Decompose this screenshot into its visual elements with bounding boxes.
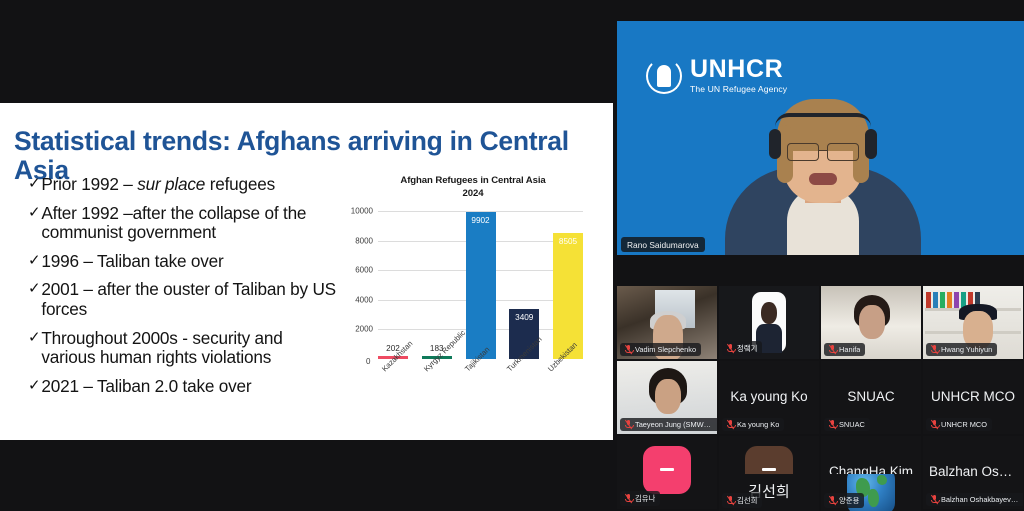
checkmark-icon: ✓	[28, 329, 40, 347]
y-axis-tick-label: 4000	[355, 295, 373, 304]
slide-bullet: ✓1996 – Taliban take over	[28, 252, 338, 272]
participant-name-tag: 정랰기	[722, 341, 762, 356]
participant-tile[interactable]: 정랰기	[719, 286, 819, 359]
participant-avatar	[643, 446, 691, 494]
main-speaker-name-label: Rano Saidumarova	[621, 237, 705, 252]
checkmark-icon: ✓	[28, 252, 40, 270]
participant-name-label: Taeyeon Jung (SMWU S...	[635, 420, 715, 429]
participant-name-tag: Hanifa	[824, 343, 865, 356]
participant-name-tag: Taeyeon Jung (SMWU S...	[620, 418, 717, 431]
participant-name-tag: UNHCR MCO	[926, 418, 992, 431]
participant-tile[interactable]: Taeyeon Jung (SMWU S...	[617, 361, 717, 434]
participant-name-label: 김유나	[635, 493, 655, 504]
participant-name-label: Hwang Yuhiyun	[941, 345, 992, 354]
participant-tile[interactable]: UNHCR MCOUNHCR MCO	[923, 361, 1023, 434]
participant-name-tag: Hwang Yuhiyun	[926, 343, 997, 356]
bullet-text-pre: 1996 – Taliban take over	[41, 251, 223, 271]
x-axis-labels: KazakhstanKyrgyz RepublicTajikistanTurkm…	[378, 365, 583, 425]
chart-bar-slot: 183	[422, 211, 452, 359]
microphone-muted-icon	[931, 495, 938, 504]
checkmark-icon: ✓	[28, 204, 40, 222]
participant-tile[interactable]: 김선희김선희	[719, 474, 819, 511]
bullet-text-pre: Prior 1992 –	[41, 174, 137, 194]
participant-display-name: UNHCR MCO	[923, 389, 1023, 404]
participant-name-tag: SNUAC	[824, 418, 870, 431]
participant-tile[interactable]: Balzhan Oshak...Balzhan Oshakbayeva (...	[923, 436, 1023, 509]
participant-tile[interactable]: 양준용	[821, 474, 921, 511]
participant-name-label: SNUAC	[839, 420, 865, 429]
microphone-muted-icon	[829, 345, 836, 354]
slide-bullet-text: After 1992 –after the collapse of the co…	[41, 204, 338, 243]
chart-bar-value-label: 8505	[559, 237, 577, 246]
participant-name-tag: Ka young Ko	[722, 418, 784, 431]
participant-name-tag: 김유나	[620, 491, 660, 506]
participant-name-label: Hanifa	[839, 345, 860, 354]
bullet-text-pre: 2001 – after the ouster of Taliban by US…	[41, 279, 336, 319]
participant-name-label: UNHCR MCO	[941, 420, 987, 429]
microphone-muted-icon	[727, 420, 734, 429]
microphone-muted-icon	[829, 420, 836, 429]
participant-display-name: Ka young Ko	[719, 389, 819, 404]
bullet-text-pre: After 1992 –after the collapse of the co…	[41, 203, 306, 243]
unhcr-virtual-background-logo: UNHCR The UN Refugee Agency	[646, 57, 787, 94]
chart-bar-slot: 9902	[466, 211, 496, 359]
participant-tile[interactable]: Hanifa	[821, 286, 921, 359]
slide-bullet-text: 2001 – after the ouster of Taliban by US…	[41, 280, 338, 319]
unhcr-wordmark: UNHCR	[690, 57, 787, 82]
slide-bullet-list: ✓Prior 1992 – sur place refugees✓After 1…	[28, 175, 338, 405]
chart-bar-value-label: 3409	[515, 313, 533, 322]
slide-bullet: ✓2001 – after the ouster of Taliban by U…	[28, 280, 338, 319]
participant-display-name: Balzhan Oshak...	[923, 464, 1023, 479]
participant-tile[interactable]: Ka young KoKa young Ko	[719, 361, 819, 434]
slide-bullet: ✓2021 – Taliban 2.0 take over	[28, 377, 338, 397]
unhcr-tagline: The UN Refugee Agency	[690, 84, 787, 94]
slide-bullet-text: 2021 – Taliban 2.0 take over	[41, 377, 338, 397]
microphone-muted-icon	[727, 344, 734, 353]
participant-name-label: 양준용	[839, 495, 859, 506]
y-axis-zero-label: 0	[366, 357, 370, 366]
microphone-muted-icon	[625, 420, 632, 429]
chart-plot-area: 200040006000800010000202183990234098505	[378, 211, 583, 359]
chart-bar-slot: 202	[378, 211, 408, 359]
unhcr-emblem-icon	[646, 58, 682, 94]
microphone-muted-icon	[829, 496, 836, 505]
microphone-muted-icon	[931, 420, 938, 429]
chart-bar-value-label: 9902	[471, 216, 489, 225]
participant-name-tag: 양준용	[824, 493, 864, 508]
chart-title: Afghan Refugees in Central Asia 2024	[340, 175, 606, 201]
participant-tile[interactable]: Hwang Yuhiyun	[923, 286, 1023, 359]
slide-bullet: ✓Prior 1992 – sur place refugees	[28, 175, 338, 195]
slide-bullet: ✓Throughout 2000s - security and various…	[28, 329, 338, 368]
participant-name-tag: 김선희	[722, 493, 762, 508]
slide-bullet-text: Throughout 2000s - security and various …	[41, 329, 338, 368]
participant-tile[interactable]: Vadim Slepchenko	[617, 286, 717, 359]
participant-name-label: Ka young Ko	[737, 420, 779, 429]
microphone-muted-icon	[931, 345, 938, 354]
checkmark-icon: ✓	[28, 377, 40, 395]
slide-bullet-text: Prior 1992 – sur place refugees	[41, 175, 338, 195]
y-axis-tick-label: 8000	[355, 236, 373, 245]
checkmark-icon: ✓	[28, 280, 40, 298]
bullet-text-pre: 2021 – Taliban 2.0 take over	[41, 376, 251, 396]
chart-title-main: Afghan Refugees in Central Asia	[400, 175, 545, 186]
chart-bar: 9902	[466, 212, 496, 359]
bullet-text-pre: Throughout 2000s - security and various …	[41, 328, 282, 368]
chart-bar: 8505	[553, 233, 583, 359]
y-axis-tick-label: 2000	[355, 325, 373, 334]
checkmark-icon: ✓	[28, 175, 40, 193]
chart-afghan-refugees: Afghan Refugees in Central Asia 2024 200…	[340, 175, 606, 430]
participant-name-label: 김선희	[737, 495, 757, 506]
participant-name-label: Vadim Slepchenko	[635, 345, 696, 354]
zoom-meeting-window: Statistical trends: Afghans arriving in …	[0, 0, 1024, 511]
slide-bullet-text: 1996 – Taliban take over	[41, 252, 338, 272]
chart-bar-slot: 8505	[553, 211, 583, 359]
microphone-muted-icon	[625, 494, 632, 503]
speaker-webcam-image	[725, 99, 921, 255]
main-speaker-video-tile[interactable]: UNHCR The UN Refugee Agency Rano Saiduma…	[617, 21, 1024, 255]
microphone-muted-icon	[727, 496, 734, 505]
microphone-muted-icon	[625, 345, 632, 354]
bullet-text-emphasis: sur place	[137, 174, 205, 194]
participant-tile[interactable]: 김유나	[617, 436, 717, 509]
chart-subtitle: 2024	[463, 188, 484, 199]
bullet-text-post: refugees	[205, 174, 275, 194]
participant-name-tag: Vadim Slepchenko	[620, 343, 701, 356]
participant-name-label: Balzhan Oshakbayeva (...	[941, 495, 1021, 504]
shared-screen-slide[interactable]: Statistical trends: Afghans arriving in …	[0, 103, 613, 440]
participant-name-tag: Balzhan Oshakbayeva (...	[926, 493, 1023, 506]
participant-grid: Vadim Slepchenko정랰기HanifaHwang YuhiyunTa…	[617, 286, 1024, 511]
participant-tile[interactable]: SNUACSNUAC	[821, 361, 921, 434]
participant-name-label: 정랰기	[737, 343, 757, 354]
chart-bars: 202183990234098505	[378, 211, 583, 359]
slide-bullet: ✓After 1992 –after the collapse of the c…	[28, 204, 338, 243]
y-axis-tick-label: 6000	[355, 266, 373, 275]
participant-display-name: SNUAC	[821, 389, 921, 404]
y-axis-tick-label: 10000	[351, 207, 373, 216]
